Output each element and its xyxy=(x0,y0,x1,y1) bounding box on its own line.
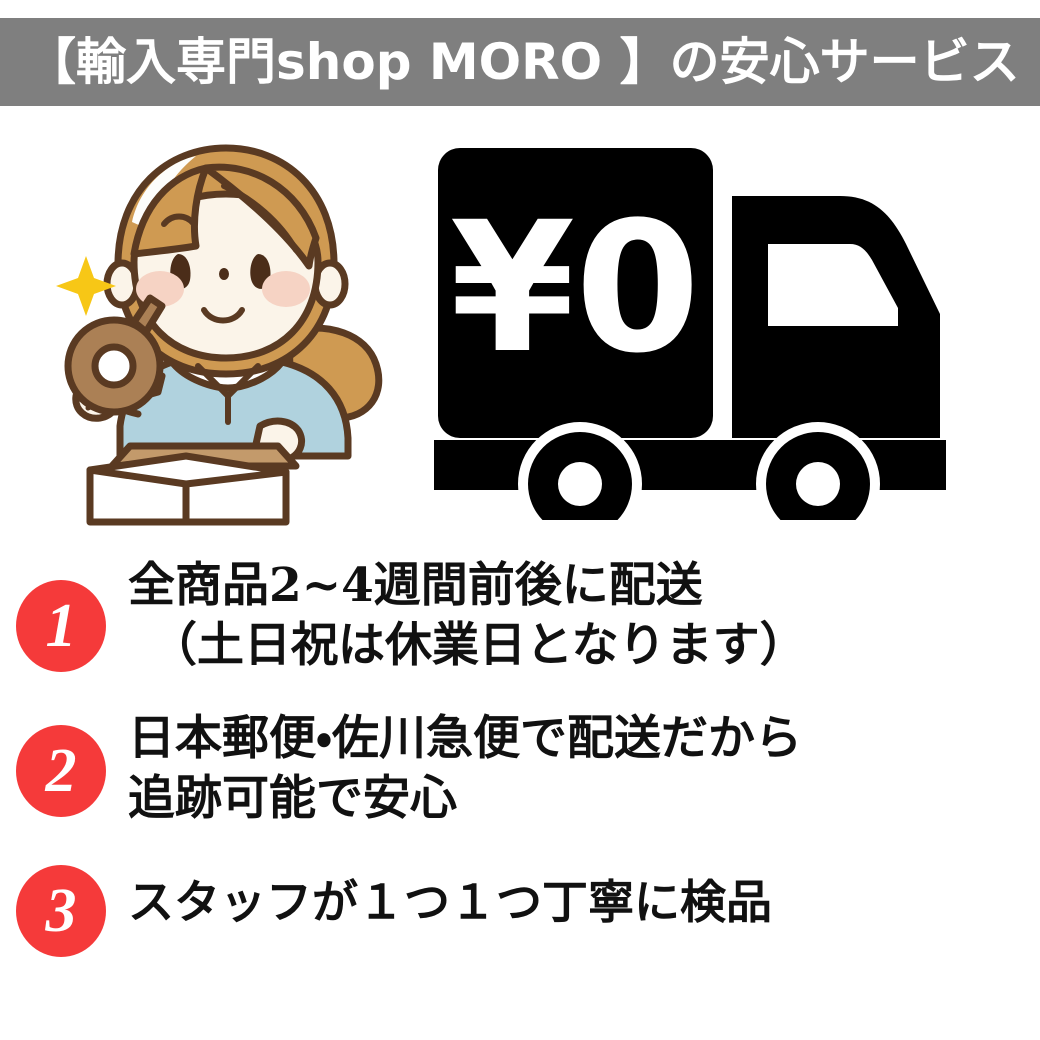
service-list: 1 全商品2~4週間前後に配送 （土日祝は休業日となります） 2 日本郵便・佐川… xyxy=(0,548,1040,957)
sparkle-icon xyxy=(56,256,116,316)
woman-inspecting-package-illustration xyxy=(46,126,406,526)
service-line-1-1: 全商品2~4週間前後に配送 xyxy=(128,556,807,616)
wheel-front-hub xyxy=(796,462,840,506)
service-text-3: スタッフが１つ１つ丁寧に検品 xyxy=(128,859,772,931)
illustration-row: ¥0 xyxy=(0,112,1040,542)
magnifying-glass xyxy=(68,298,162,412)
service-item-1: 1 全商品2~4週間前後に配送 （土日祝は休業日となります） xyxy=(0,556,1040,675)
service-text-2: 日本郵便・佐川急便で配送だから 追跡可能で安心 xyxy=(128,709,802,828)
nose xyxy=(219,268,229,280)
service-line-2-2: 追跡可能で安心 xyxy=(128,769,802,829)
woman-illustration-svg xyxy=(46,126,406,526)
page-root: 【輸入専門shop MORO 】の安心サービス xyxy=(0,0,1040,1040)
service-number-badge-2: 2 xyxy=(16,725,106,817)
service-number-badge-1: 1 xyxy=(16,580,106,672)
wheel-rear-hub xyxy=(558,462,602,506)
truck-price-label: ¥0 xyxy=(450,184,701,393)
cheek-right xyxy=(262,271,310,307)
service-line-2-1: 日本郵便・佐川急便で配送だから xyxy=(128,709,802,769)
service-item-2: 2 日本郵便・佐川急便で配送だから 追跡可能で安心 xyxy=(0,709,1040,828)
header-banner: 【輸入専門shop MORO 】の安心サービス xyxy=(0,18,1040,106)
delivery-truck-svg: ¥0 xyxy=(420,140,1020,520)
service-number-badge-3: 3 xyxy=(16,865,106,957)
page-title: 【輸入専門shop MORO 】の安心サービス xyxy=(26,37,1020,87)
delivery-truck-icon: ¥0 xyxy=(420,140,1020,520)
service-text-1: 全商品2~4週間前後に配送 （土日祝は休業日となります） xyxy=(128,556,807,675)
service-line-1-2: （土日祝は休業日となります） xyxy=(128,616,807,676)
service-line-3-1: スタッフが１つ１つ丁寧に検品 xyxy=(128,873,772,931)
service-item-3: 3 スタッフが１つ１つ丁寧に検品 xyxy=(0,859,1040,957)
